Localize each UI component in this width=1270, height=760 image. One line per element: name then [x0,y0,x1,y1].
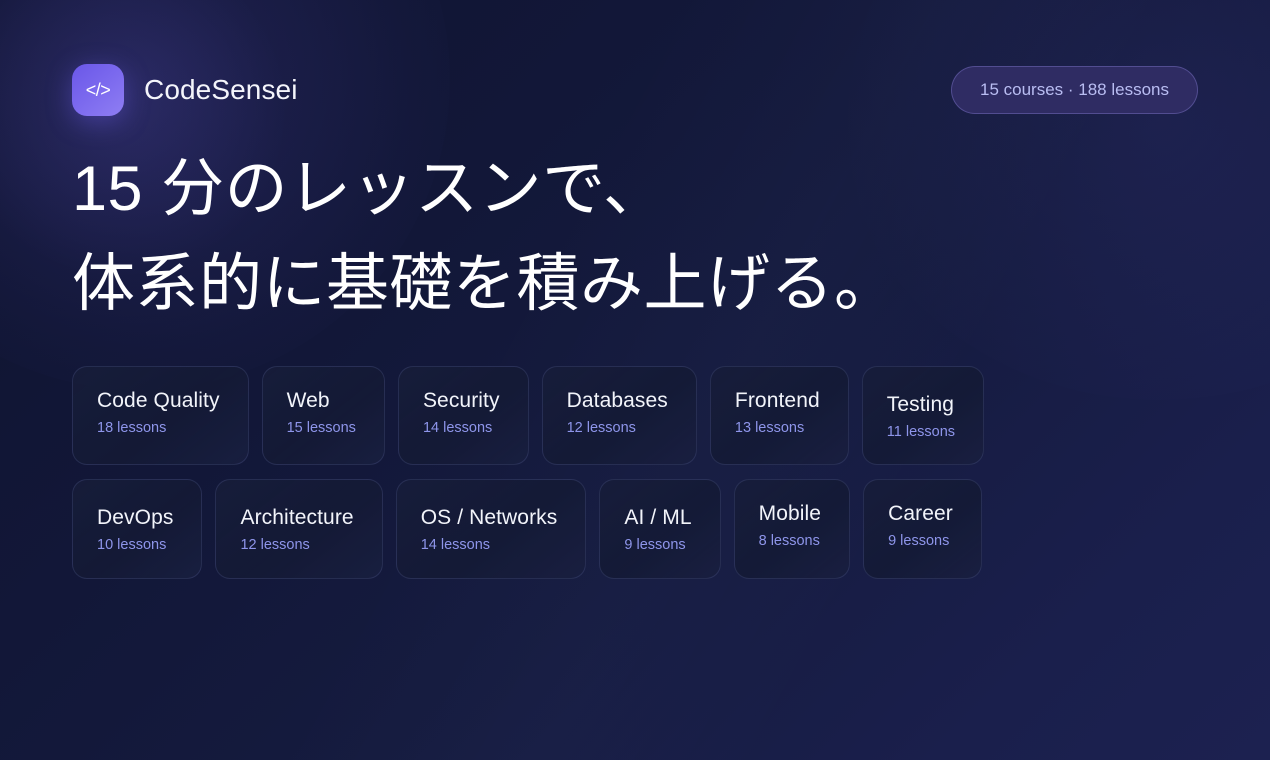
category-card-title: Web [287,389,356,413]
category-card-lesson-count: 12 lessons [240,538,353,554]
category-card-title: DevOps [97,506,173,530]
brand-logo[interactable]: </> CodeSensei [72,64,298,116]
category-card-lesson-count: 15 lessons [287,421,356,437]
category-card-title: OS / Networks [421,506,558,530]
category-card[interactable]: AI / ML9 lessons [599,479,720,578]
headline-line-1: 15 分のレッスンで、 [72,142,1198,237]
category-card-lesson-count: 14 lessons [423,421,500,437]
category-card[interactable]: Code Quality18 lessons [72,366,249,465]
category-card[interactable]: OS / Networks14 lessons [396,479,587,578]
category-card-grid: Code Quality18 lessonsWeb15 lessonsSecur… [72,366,1112,579]
category-card-lesson-count: 13 lessons [735,421,820,437]
category-card-lesson-count: 10 lessons [97,538,173,554]
landing-page: </> CodeSensei 15 courses · 188 lessons … [0,0,1270,760]
brand-name: CodeSensei [144,74,298,106]
category-card-lesson-count: 9 lessons [888,534,953,550]
stats-badge: 15 courses · 188 lessons [951,66,1198,114]
logo-glyph-text: </> [86,80,111,101]
headline-line-2: 体系的に基礎を積み上げる。 [72,237,1198,332]
category-card-lesson-count: 18 lessons [97,421,220,437]
category-card-title: AI / ML [624,506,691,530]
category-card-lesson-count: 9 lessons [624,538,691,554]
category-card[interactable]: Career9 lessons [863,479,982,578]
page-title: 15 分のレッスンで、 体系的に基礎を積み上げる。 [72,142,1198,331]
category-card[interactable]: Databases12 lessons [542,366,697,465]
category-card[interactable]: Mobile8 lessons [734,479,850,578]
category-card-lesson-count: 8 lessons [759,534,821,550]
category-card-lesson-count: 12 lessons [567,421,668,437]
category-card-lesson-count: 11 lessons [887,425,955,441]
category-card-title: Testing [887,393,955,417]
category-card-title: Security [423,389,500,413]
category-card[interactable]: DevOps10 lessons [72,479,202,578]
category-card-title: Career [888,502,953,526]
category-card-title: Databases [567,389,668,413]
category-card-title: Frontend [735,389,820,413]
category-card-title: Code Quality [97,389,220,413]
category-card[interactable]: Architecture12 lessons [215,479,382,578]
category-card-title: Architecture [240,506,353,530]
header-bar: </> CodeSensei 15 courses · 188 lessons [72,62,1198,118]
category-card[interactable]: Web15 lessons [262,366,385,465]
code-brackets-icon: </> [72,64,124,116]
category-card-lesson-count: 14 lessons [421,538,558,554]
category-card-title: Mobile [759,502,821,526]
category-card[interactable]: Frontend13 lessons [710,366,849,465]
category-card[interactable]: Security14 lessons [398,366,529,465]
category-card[interactable]: Testing11 lessons [862,366,984,465]
